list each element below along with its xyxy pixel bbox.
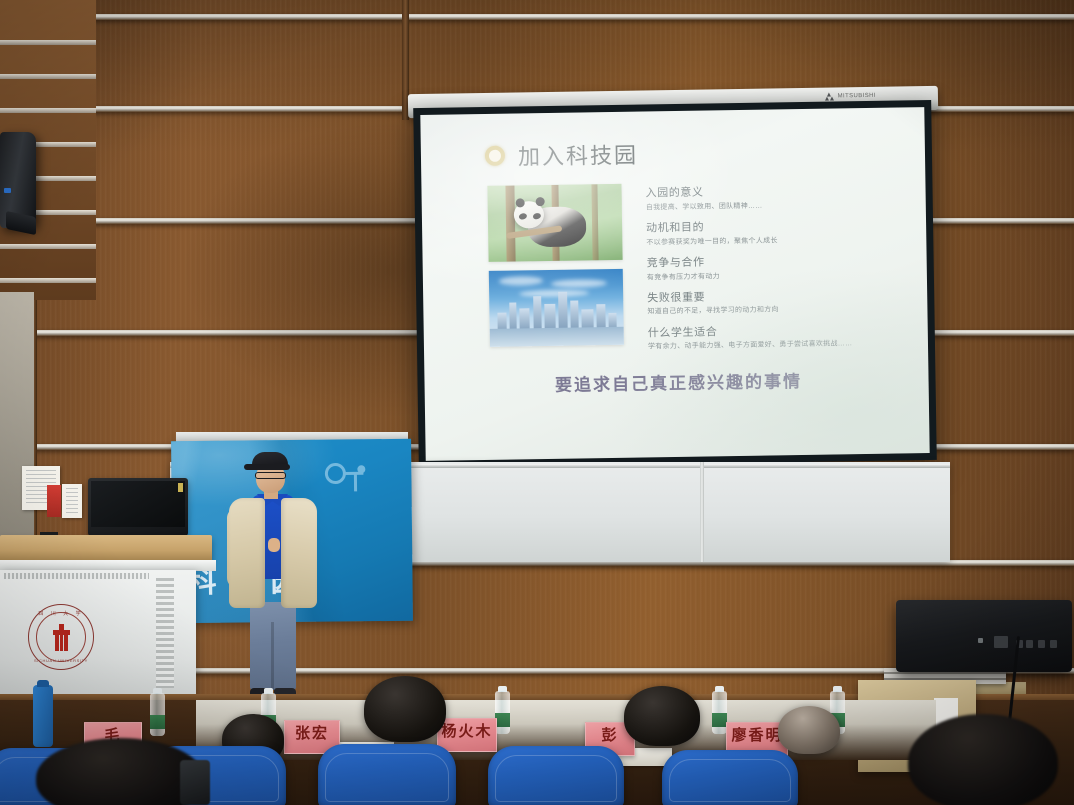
gold-ring-icon xyxy=(485,146,505,166)
projection-screen: 加入科技园 xyxy=(413,100,937,468)
presenter-hand xyxy=(268,538,280,552)
monitor-screen xyxy=(91,481,185,527)
bullet-subtext: 自我提高、学以致用、团队精神…… xyxy=(646,199,896,213)
bullet-heading: 失败很重要 xyxy=(647,288,897,306)
mitsubishi-icon xyxy=(826,92,835,100)
bullet-item: 什么学生适合 学有余力、动手能力强、电子方面爱好、勇于尝试喜欢挑战…… xyxy=(648,323,898,353)
screen-brand-label: MITSUBISHI xyxy=(838,93,876,100)
monitor-sticker-icon xyxy=(178,483,183,492)
bullet-subtext: 有竞争有压力才有动力 xyxy=(647,269,897,283)
screen-brand-logo: MITSUBISHI xyxy=(826,92,876,101)
podium-desktop xyxy=(0,535,212,563)
red-wall-sticker xyxy=(47,485,61,517)
bullet-item: 失败很重要 知道自己的不足，寻找学习的动力和方向 xyxy=(647,288,897,318)
auditorium-chair xyxy=(318,744,456,805)
bullet-subtext: 学有余力、动手能力强、电子方面爱好、勇于尝试喜欢挑战…… xyxy=(648,339,898,353)
auditorium-chair xyxy=(662,750,798,805)
water-bottle xyxy=(150,688,165,736)
foreground-audience-head xyxy=(908,714,1058,805)
logo-tower-icon xyxy=(53,624,70,651)
slide-image-column xyxy=(487,184,624,365)
city-skyline-photo xyxy=(489,269,624,347)
podium-monitor xyxy=(88,478,188,536)
audience-head xyxy=(624,686,700,746)
lecture-hall-photo: MITSUBISHI 加入科技园 xyxy=(0,0,1074,805)
presenter-jacket-right xyxy=(281,498,317,608)
projector-led-icon xyxy=(978,638,983,643)
presenter-jacket-left xyxy=(229,498,265,608)
banner-logo-icon xyxy=(321,461,367,501)
podium-grille xyxy=(4,573,149,579)
presenter-cap-brim xyxy=(244,464,290,470)
bullet-heading: 竞争与合作 xyxy=(647,253,897,271)
bullet-subtext: 不以参赛获奖为唯一目的，聚焦个人成长 xyxy=(646,234,896,248)
presenter-glasses xyxy=(255,472,286,479)
panda-photo xyxy=(487,184,622,262)
bullet-heading: 什么学生适合 xyxy=(648,323,898,341)
name-card-3: 杨火木 xyxy=(437,718,497,752)
bullet-heading: 动机和目的 xyxy=(646,218,896,236)
bullet-item: 入园的意义 自我提高、学以致用、团队精神…… xyxy=(645,184,895,214)
presentation-slide: 加入科技园 xyxy=(420,107,929,461)
projector-port xyxy=(1050,640,1057,648)
logo-text-en: SICHUAN UNIVERSITY xyxy=(29,658,93,663)
wall-notice xyxy=(62,484,82,518)
bullet-item: 动机和目的 不以参赛获奖为唯一目的，聚焦个人成长 xyxy=(646,218,896,248)
projector xyxy=(896,600,1072,672)
slide-title-row: 加入科技园 xyxy=(485,134,895,172)
speaker-led-icon xyxy=(4,188,11,193)
logo-text-cn: 四 川 大 学 xyxy=(29,610,93,617)
projector-port xyxy=(994,636,1008,648)
bullet-subtext: 知道自己的不足，寻找学习的动力和方向 xyxy=(647,304,897,318)
audience-head xyxy=(364,676,446,742)
audience-head xyxy=(778,706,840,754)
bullet-item: 竞争与合作 有竞争有压力才有动力 xyxy=(647,253,897,283)
slide-footer-text: 要追求自己真正感兴趣的事情 xyxy=(458,366,898,398)
water-bottle xyxy=(495,686,510,734)
slide-bullet-list: 入园的意义 自我提高、学以致用、团队精神…… 动机和目的 不以参赛获奖为唯一目的… xyxy=(645,180,898,362)
whiteboard-seam xyxy=(700,462,704,562)
wall-seam xyxy=(0,14,1074,20)
slide-title: 加入科技园 xyxy=(518,138,639,172)
presenter xyxy=(224,452,320,704)
projector-port xyxy=(1038,640,1045,648)
presenter-jeans xyxy=(250,602,296,690)
water-bottle xyxy=(712,686,727,734)
bullet-heading: 入园的意义 xyxy=(645,184,895,202)
sichuan-university-logo: 四 川 大 学 SICHUAN UNIVERSITY xyxy=(28,604,94,670)
slide-body: 入园的意义 自我提高、学以致用、团队精神…… 动机和目的 不以参赛获奖为唯一目的… xyxy=(487,180,898,365)
auditorium-chair xyxy=(488,746,624,805)
podium-vent xyxy=(156,578,174,688)
handheld-phone xyxy=(180,760,210,805)
blue-thermos xyxy=(33,685,53,747)
projector-port xyxy=(1026,640,1033,648)
